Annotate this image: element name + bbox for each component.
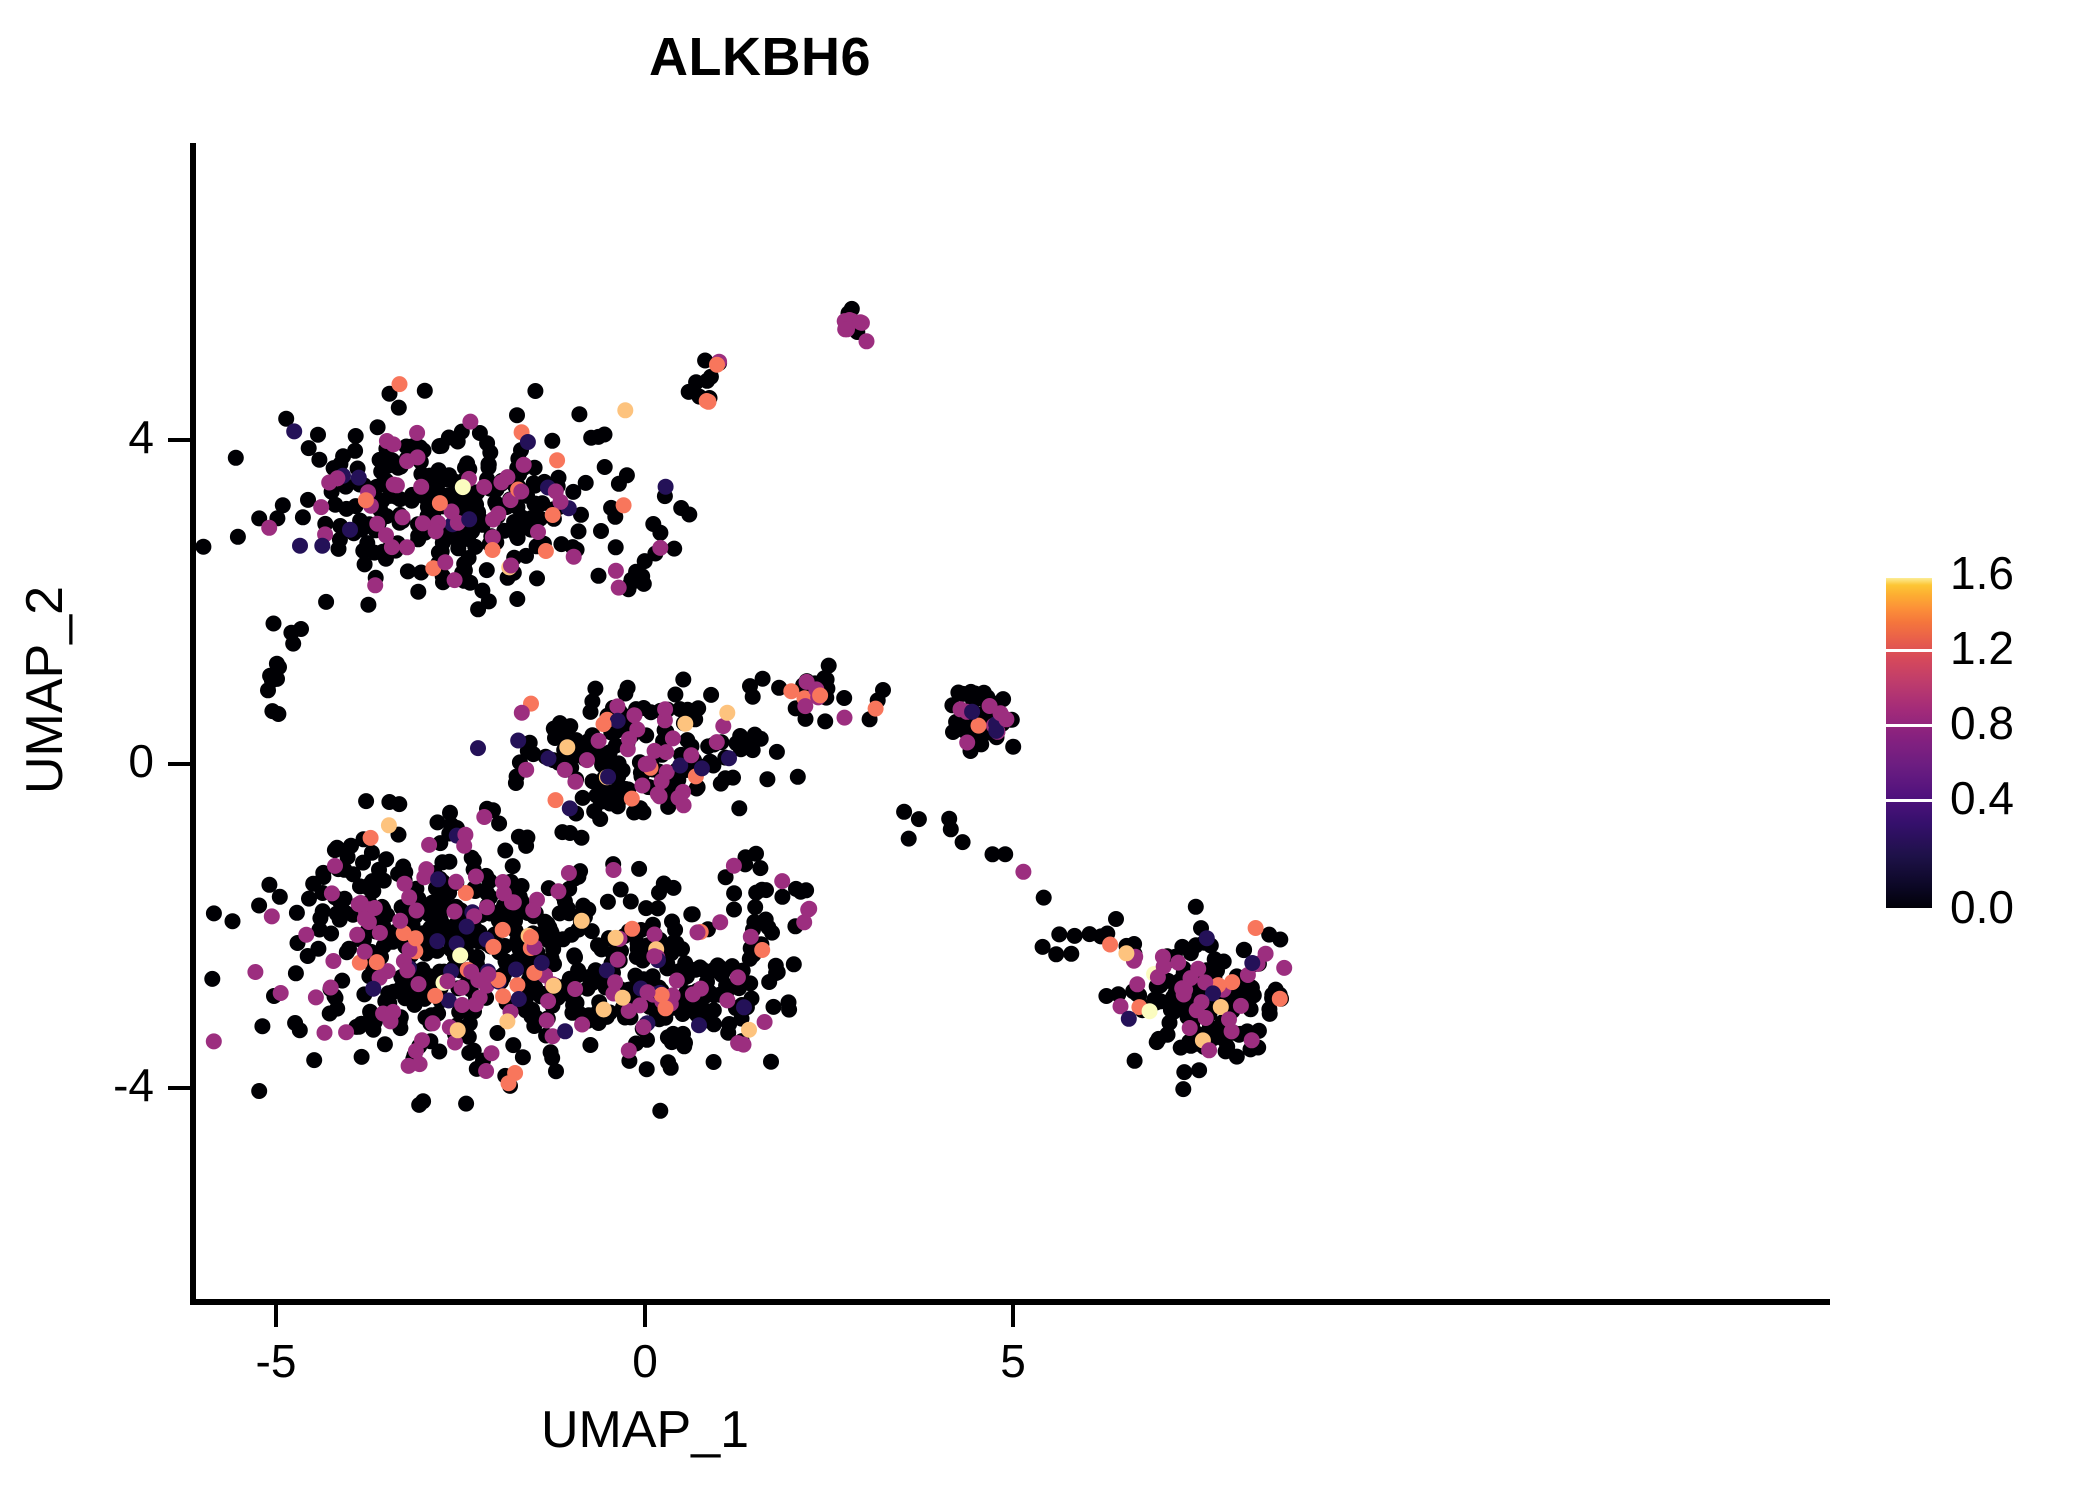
scatter-point xyxy=(502,491,518,507)
scatter-point xyxy=(368,497,384,513)
scatter-point xyxy=(544,998,560,1014)
y-tick-mark-1 xyxy=(168,762,190,766)
scatter-point xyxy=(577,749,593,765)
scatter-point xyxy=(453,478,469,494)
scatter-point xyxy=(1196,935,1212,951)
scatter-point xyxy=(363,830,379,846)
scatter-point xyxy=(401,1058,417,1074)
scatter-point xyxy=(407,943,423,959)
scatter-point xyxy=(1231,1027,1247,1043)
scatter-point xyxy=(1129,976,1145,992)
scatter-point xyxy=(405,1051,421,1067)
scatter-point xyxy=(443,942,459,958)
scatter-point xyxy=(452,947,468,963)
scatter-point xyxy=(557,762,573,778)
scatter-point xyxy=(1005,739,1021,755)
scatter-point xyxy=(430,814,446,830)
scatter-point xyxy=(544,1050,560,1066)
scatter-point xyxy=(604,785,620,801)
scatter-point xyxy=(628,701,644,717)
scatter-point xyxy=(1251,1023,1267,1039)
scatter-point xyxy=(844,301,860,317)
scatter-point xyxy=(407,488,423,504)
scatter-point xyxy=(604,971,620,987)
scatter-point xyxy=(527,496,543,512)
scatter-point xyxy=(1203,938,1219,954)
scatter-point xyxy=(1036,890,1052,906)
scatter-point xyxy=(550,883,566,899)
scatter-point xyxy=(475,517,491,533)
scatter-point xyxy=(520,943,536,959)
scatter-point xyxy=(754,942,770,958)
scatter-point xyxy=(460,531,476,547)
scatter-point xyxy=(504,473,520,489)
scatter-point xyxy=(628,564,644,580)
scatter-point xyxy=(436,895,452,911)
scatter-point xyxy=(394,899,410,915)
scatter-point xyxy=(458,914,474,930)
colorbar-legend: 1.6 1.2 0.8 0.4 0.0 xyxy=(1886,570,2086,920)
scatter-point xyxy=(1163,1002,1179,1018)
scatter-point xyxy=(1174,939,1190,955)
scatter-point xyxy=(518,762,534,778)
scatter-point xyxy=(586,803,602,819)
scatter-point xyxy=(449,1017,465,1033)
scatter-point xyxy=(603,725,619,741)
scatter-point xyxy=(306,1052,322,1068)
scatter-point xyxy=(770,964,786,980)
scatter-point xyxy=(1264,987,1280,1003)
scatter-point xyxy=(270,706,286,722)
scatter-point xyxy=(285,636,301,652)
scatter-point xyxy=(943,821,959,837)
scatter-point xyxy=(630,941,646,957)
scatter-point xyxy=(1152,978,1168,994)
scatter-point xyxy=(1193,975,1209,991)
scatter-point xyxy=(375,917,391,933)
scatter-point xyxy=(600,708,616,724)
scatter-point xyxy=(555,931,571,947)
scatter-point xyxy=(464,523,480,539)
scatter-point xyxy=(301,440,317,456)
scatter-point xyxy=(357,556,373,572)
scatter-point xyxy=(286,423,302,439)
scatter-point xyxy=(523,940,539,956)
scatter-point xyxy=(706,737,722,753)
scatter-point xyxy=(1160,1027,1176,1043)
scatter-point xyxy=(1150,969,1166,985)
scatter-point xyxy=(441,885,457,901)
scatter-point xyxy=(1093,928,1109,944)
scatter-point xyxy=(327,858,343,874)
scatter-point xyxy=(1239,1023,1255,1039)
scatter-point xyxy=(509,460,525,476)
scatter-point xyxy=(600,894,616,910)
scatter-point xyxy=(1142,1003,1158,1019)
scatter-point xyxy=(359,535,375,551)
scatter-point xyxy=(537,914,553,930)
scatter-point xyxy=(479,898,495,914)
scatter-point xyxy=(413,942,429,958)
scatter-point xyxy=(485,939,501,955)
scatter-point xyxy=(433,553,449,569)
scatter-point xyxy=(431,882,447,898)
scatter-point xyxy=(623,1009,639,1025)
scatter-point xyxy=(852,314,868,330)
scatter-point xyxy=(357,944,373,960)
scatter-point xyxy=(354,522,370,538)
scatter-point xyxy=(672,766,688,782)
scatter-point xyxy=(415,903,431,919)
scatter-point xyxy=(1151,1031,1167,1047)
scatter-point xyxy=(526,908,542,924)
scatter-point xyxy=(663,945,679,961)
scatter-point xyxy=(461,963,477,979)
scatter-point xyxy=(714,967,730,983)
scatter-point xyxy=(508,923,524,939)
scatter-point xyxy=(429,903,445,919)
scatter-point xyxy=(430,515,446,531)
scatter-point xyxy=(621,1003,637,1019)
scatter-point xyxy=(1233,998,1249,1014)
scatter-point xyxy=(337,862,353,878)
scatter-point xyxy=(599,769,615,785)
scatter-point xyxy=(365,899,381,915)
scatter-point xyxy=(195,539,211,555)
scatter-point xyxy=(703,687,719,703)
scatter-point xyxy=(715,964,731,980)
scatter-point xyxy=(357,911,373,927)
scatter-point xyxy=(615,762,631,778)
scatter-point xyxy=(741,1022,757,1038)
scatter-point xyxy=(1244,1032,1260,1048)
scatter-point xyxy=(472,425,488,441)
scatter-point xyxy=(329,906,345,922)
scatter-point xyxy=(746,914,762,930)
scatter-point xyxy=(658,744,674,760)
scatter-point xyxy=(361,901,377,917)
scatter-point xyxy=(1181,1034,1197,1050)
scatter-point xyxy=(599,712,615,728)
scatter-point xyxy=(634,778,650,794)
scatter-point xyxy=(950,685,966,701)
scatter-point xyxy=(449,828,465,844)
x-tick-mark-0 xyxy=(274,1305,278,1327)
scatter-point xyxy=(470,504,486,520)
scatter-point xyxy=(413,565,429,581)
scatter-point xyxy=(621,1053,637,1069)
scatter-point xyxy=(375,544,391,560)
scatter-point xyxy=(629,721,645,737)
scatter-point xyxy=(1148,995,1164,1011)
scatter-point xyxy=(654,987,670,1003)
scatter-point xyxy=(345,907,361,923)
scatter-point xyxy=(560,900,576,916)
scatter-point xyxy=(675,672,691,688)
scatter-point xyxy=(654,993,670,1009)
colorbar-tick-1 xyxy=(1886,649,1932,652)
scatter-point xyxy=(437,554,453,570)
scatter-point xyxy=(1215,1014,1231,1030)
scatter-point xyxy=(561,975,577,991)
scatter-point xyxy=(1170,955,1186,971)
scatter-point xyxy=(495,874,511,890)
scatter-point xyxy=(489,481,505,497)
scatter-point xyxy=(332,532,348,548)
scatter-point xyxy=(974,719,990,735)
scatter-point xyxy=(317,526,333,542)
scatter-point xyxy=(502,1078,518,1094)
scatter-point xyxy=(701,394,717,410)
scatter-point xyxy=(593,523,609,539)
scatter-point xyxy=(468,989,484,1005)
scatter-point xyxy=(1175,1081,1191,1097)
scatter-point xyxy=(1201,965,1217,981)
scatter-point xyxy=(545,501,561,517)
scatter-points-layer xyxy=(0,0,2100,1500)
scatter-point xyxy=(495,970,511,986)
scatter-point xyxy=(310,941,326,957)
scatter-point xyxy=(608,563,624,579)
scatter-point xyxy=(619,736,635,752)
scatter-point xyxy=(356,932,372,948)
scatter-point xyxy=(395,509,411,525)
scatter-point xyxy=(566,549,582,565)
scatter-point xyxy=(607,509,623,525)
scatter-point xyxy=(1226,997,1242,1013)
scatter-point xyxy=(665,987,681,1003)
scatter-point xyxy=(490,972,506,988)
scatter-point xyxy=(508,962,524,978)
scatter-point xyxy=(557,720,573,736)
scatter-point xyxy=(525,746,541,762)
scatter-point xyxy=(663,1060,679,1076)
scatter-point xyxy=(787,918,803,934)
scatter-point xyxy=(1108,911,1124,927)
scatter-point xyxy=(615,1003,631,1019)
scatter-point xyxy=(603,978,619,994)
scatter-point xyxy=(1166,995,1182,1011)
scatter-point xyxy=(479,936,495,952)
scatter-point xyxy=(415,962,431,978)
scatter-point xyxy=(1209,959,1225,975)
scatter-point xyxy=(819,681,835,697)
scatter-point xyxy=(503,558,519,574)
scatter-point xyxy=(312,922,328,938)
scatter-point xyxy=(1183,945,1199,961)
scatter-point xyxy=(1190,1029,1206,1045)
scatter-point xyxy=(434,544,450,560)
scatter-point xyxy=(868,701,884,717)
scatter-point xyxy=(648,746,664,762)
scatter-point xyxy=(667,687,683,703)
scatter-point xyxy=(730,969,746,985)
scatter-point xyxy=(371,515,387,531)
scatter-point xyxy=(295,509,311,525)
scatter-point xyxy=(705,758,721,774)
scatter-point xyxy=(527,939,543,955)
scatter-point xyxy=(808,681,824,697)
scatter-point xyxy=(959,704,975,720)
scatter-point xyxy=(543,1044,559,1060)
scatter-point xyxy=(963,743,979,759)
scatter-point xyxy=(562,800,578,816)
scatter-point xyxy=(251,1083,267,1099)
scatter-point xyxy=(1185,992,1201,1008)
scatter-point xyxy=(657,701,673,717)
scatter-point xyxy=(1165,989,1181,1005)
scatter-point xyxy=(706,1002,722,1018)
scatter-point xyxy=(628,1036,644,1052)
scatter-point xyxy=(393,1009,409,1025)
scatter-point xyxy=(846,318,862,334)
scatter-point xyxy=(581,733,597,749)
scatter-point xyxy=(645,516,661,532)
scatter-point xyxy=(734,1011,750,1027)
scatter-point xyxy=(367,900,383,916)
scatter-point xyxy=(810,689,826,705)
scatter-point xyxy=(441,469,457,485)
scatter-point xyxy=(525,925,541,941)
scatter-point xyxy=(745,922,761,938)
scatter-point xyxy=(636,971,652,987)
scatter-point xyxy=(370,419,386,435)
scatter-point xyxy=(461,906,477,922)
scatter-point xyxy=(540,993,556,1009)
scatter-point xyxy=(730,1035,746,1051)
scatter-point xyxy=(658,786,674,802)
scatter-point xyxy=(432,495,448,511)
scatter-point xyxy=(682,998,698,1014)
scatter-point xyxy=(586,744,602,760)
scatter-point xyxy=(875,682,891,698)
scatter-point xyxy=(448,874,464,890)
scatter-point xyxy=(456,928,472,944)
scatter-point xyxy=(837,313,853,329)
scatter-point xyxy=(540,1010,556,1026)
scatter-point xyxy=(454,980,470,996)
scatter-point xyxy=(526,965,542,981)
scatter-point xyxy=(1162,950,1178,966)
scatter-point xyxy=(390,460,406,476)
scatter-point xyxy=(474,583,490,599)
scatter-point xyxy=(443,817,459,833)
scatter-point xyxy=(1159,948,1175,964)
scatter-point xyxy=(1243,979,1259,995)
scatter-point xyxy=(407,908,423,924)
scatter-point xyxy=(521,928,537,944)
scatter-point xyxy=(1246,987,1262,1003)
scatter-point xyxy=(1102,937,1118,953)
scatter-point xyxy=(790,769,806,785)
scatter-point xyxy=(454,565,470,581)
scatter-point xyxy=(660,1029,676,1045)
scatter-point xyxy=(1035,939,1051,955)
scatter-point xyxy=(453,926,469,942)
scatter-point xyxy=(467,883,483,899)
scatter-point xyxy=(665,991,681,1007)
scatter-point xyxy=(515,460,531,476)
scatter-point xyxy=(524,979,540,995)
scatter-point xyxy=(523,696,539,712)
scatter-point xyxy=(447,948,463,964)
scatter-point xyxy=(361,968,377,984)
scatter-point xyxy=(739,999,755,1015)
scatter-point xyxy=(526,521,542,537)
scatter-point xyxy=(315,865,331,881)
scatter-point xyxy=(650,900,666,916)
scatter-point xyxy=(1203,978,1219,994)
scatter-point xyxy=(498,953,514,969)
scatter-point xyxy=(1119,938,1135,954)
scatter-point xyxy=(584,727,600,743)
scatter-point xyxy=(693,924,709,940)
scatter-point xyxy=(1134,1002,1150,1018)
scatter-point xyxy=(1067,928,1083,944)
scatter-point xyxy=(408,930,424,946)
scatter-point xyxy=(392,376,408,392)
scatter-point xyxy=(1226,1025,1242,1041)
scatter-point xyxy=(261,520,277,536)
scatter-point xyxy=(501,887,517,903)
scatter-point xyxy=(588,734,604,750)
x-tick-label-2: 5 xyxy=(953,1334,1073,1388)
scatter-point xyxy=(356,986,372,1002)
scatter-point xyxy=(382,488,398,504)
scatter-point xyxy=(469,951,485,967)
scatter-point xyxy=(353,895,369,911)
scatter-point xyxy=(476,479,492,495)
scatter-point xyxy=(375,476,391,492)
scatter-point xyxy=(1197,974,1213,990)
scatter-point xyxy=(1232,1026,1248,1042)
scatter-point xyxy=(548,792,564,808)
scatter-point xyxy=(633,981,649,997)
scatter-point xyxy=(361,877,377,893)
scatter-point xyxy=(1127,1053,1143,1069)
scatter-point xyxy=(799,673,815,689)
scatter-point xyxy=(849,324,865,340)
scatter-point xyxy=(436,974,452,990)
scatter-point xyxy=(1224,1023,1240,1039)
scatter-point xyxy=(327,497,343,513)
scatter-point xyxy=(260,682,276,698)
scatter-point xyxy=(567,748,583,764)
scatter-point xyxy=(688,374,704,390)
scatter-point xyxy=(352,931,368,947)
scatter-point xyxy=(600,747,616,763)
scatter-point xyxy=(690,779,706,795)
scatter-point xyxy=(323,980,339,996)
scatter-point xyxy=(584,923,600,939)
scatter-point xyxy=(1159,1027,1175,1043)
scatter-point xyxy=(637,553,653,569)
scatter-point xyxy=(561,500,577,516)
scatter-point xyxy=(696,990,712,1006)
scatter-point xyxy=(381,794,397,810)
scatter-point xyxy=(965,691,981,707)
scatter-point xyxy=(1160,973,1176,989)
scatter-point xyxy=(358,492,374,508)
scatter-point xyxy=(639,1061,655,1077)
scatter-point xyxy=(577,909,593,925)
scatter-point xyxy=(781,994,797,1010)
scatter-point xyxy=(818,690,834,706)
scatter-point xyxy=(387,538,403,554)
scatter-point xyxy=(422,1015,438,1031)
scatter-point xyxy=(1200,986,1216,1002)
scatter-point xyxy=(432,835,448,851)
